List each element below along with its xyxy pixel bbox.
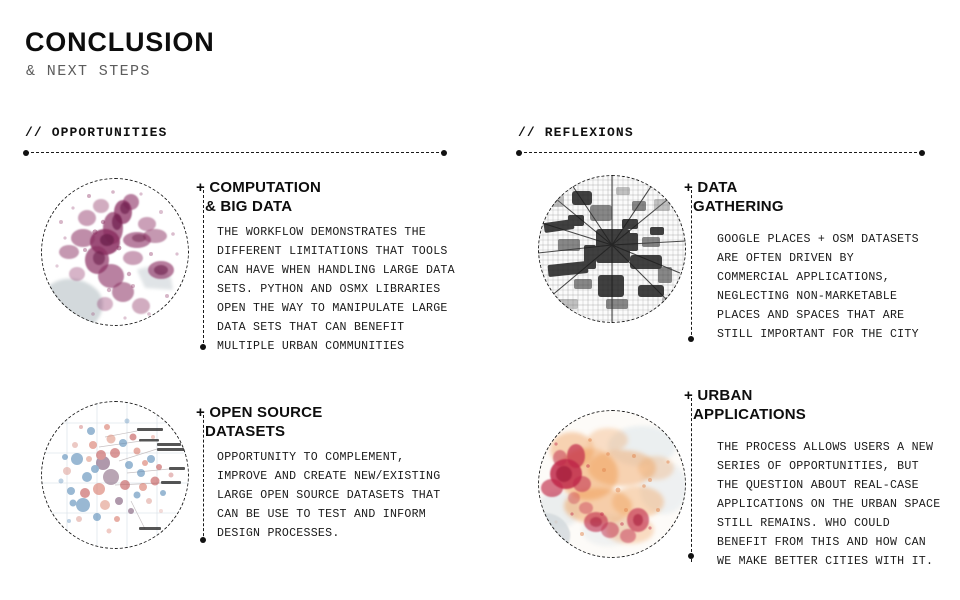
entry-heading-line1: DATA bbox=[697, 179, 737, 196]
entry-heading-line2: DATASETS bbox=[205, 423, 285, 440]
entry-heading-line1: OPEN SOURCE bbox=[209, 404, 322, 421]
entry-urban-applications: + URBANAPPLICATIONS THE PROCESS ALLOWS U… bbox=[691, 386, 941, 562]
figure-bubble-scatter-map bbox=[41, 401, 189, 549]
plus-icon: + bbox=[684, 179, 693, 196]
plus-icon: + bbox=[684, 387, 693, 404]
divider-line bbox=[26, 152, 444, 153]
entry-heading-line2: APPLICATIONS bbox=[693, 406, 806, 423]
entry-end-dot bbox=[200, 344, 206, 350]
entry-end-dot bbox=[688, 336, 694, 342]
street-network-map-art bbox=[538, 175, 686, 323]
entry-heading: + DATAGATHERING bbox=[684, 178, 784, 216]
divider-dot-right bbox=[919, 150, 925, 156]
entry-heading-line2: GATHERING bbox=[693, 198, 784, 215]
column-header-reflexions: // REFLEXIONS bbox=[518, 125, 634, 140]
plus-icon: + bbox=[196, 179, 205, 196]
divider-line bbox=[519, 152, 922, 153]
entry-heading: + COMPUTATION& BIG DATA bbox=[196, 178, 321, 216]
divider-dot-left bbox=[23, 150, 29, 156]
entry-heading: + URBANAPPLICATIONS bbox=[684, 386, 806, 424]
entry-end-dot bbox=[200, 537, 206, 543]
figure-density-map-magenta bbox=[41, 178, 189, 326]
entry-computation-big-data: + COMPUTATION& BIG DATA THE WORKFLOW DEM… bbox=[203, 178, 463, 348]
figure-clip bbox=[538, 175, 686, 323]
plus-icon: + bbox=[196, 404, 205, 421]
bubble-scatter-map-art bbox=[41, 401, 189, 549]
entry-body: THE WORKFLOW DEMONSTRATES THE DIFFERENT … bbox=[217, 223, 455, 356]
entry-open-source-datasets: + OPEN SOURCEDATASETS OPPORTUNITY TO COM… bbox=[203, 403, 463, 551]
entry-body: OPPORTUNITY TO COMPLEMENT, IMPROVE AND C… bbox=[217, 448, 440, 543]
entry-body: THE PROCESS ALLOWS USERS A NEW SERIES OF… bbox=[717, 438, 940, 571]
figure-clip bbox=[41, 178, 189, 326]
column-header-opportunities: // OPPORTUNITIES bbox=[25, 125, 167, 140]
density-map-orange-art bbox=[538, 410, 686, 558]
figure-clip bbox=[538, 410, 686, 558]
divider-opportunities bbox=[23, 149, 447, 156]
entry-end-dot bbox=[688, 553, 694, 559]
divider-dot-right bbox=[441, 150, 447, 156]
divider-reflexions bbox=[516, 149, 925, 156]
entry-heading: + OPEN SOURCEDATASETS bbox=[196, 403, 322, 441]
figure-clip bbox=[41, 401, 189, 549]
page-subtitle: & NEXT STEPS bbox=[26, 64, 151, 79]
entry-heading-line1: COMPUTATION bbox=[209, 179, 321, 196]
density-map-magenta-art bbox=[41, 178, 189, 326]
entry-heading-line1: URBAN bbox=[697, 387, 752, 404]
figure-street-network-map bbox=[538, 175, 686, 323]
figure-density-map-orange bbox=[538, 410, 686, 558]
entry-body: GOOGLE PLACES + OSM DATASETS ARE OFTEN D… bbox=[717, 230, 919, 344]
page-title: CONCLUSION bbox=[25, 29, 215, 56]
entry-heading-line2: & BIG DATA bbox=[205, 198, 292, 215]
divider-dot-left bbox=[516, 150, 522, 156]
entry-data-gathering: + DATAGATHERING GOOGLE PLACES + OSM DATA… bbox=[691, 178, 941, 340]
